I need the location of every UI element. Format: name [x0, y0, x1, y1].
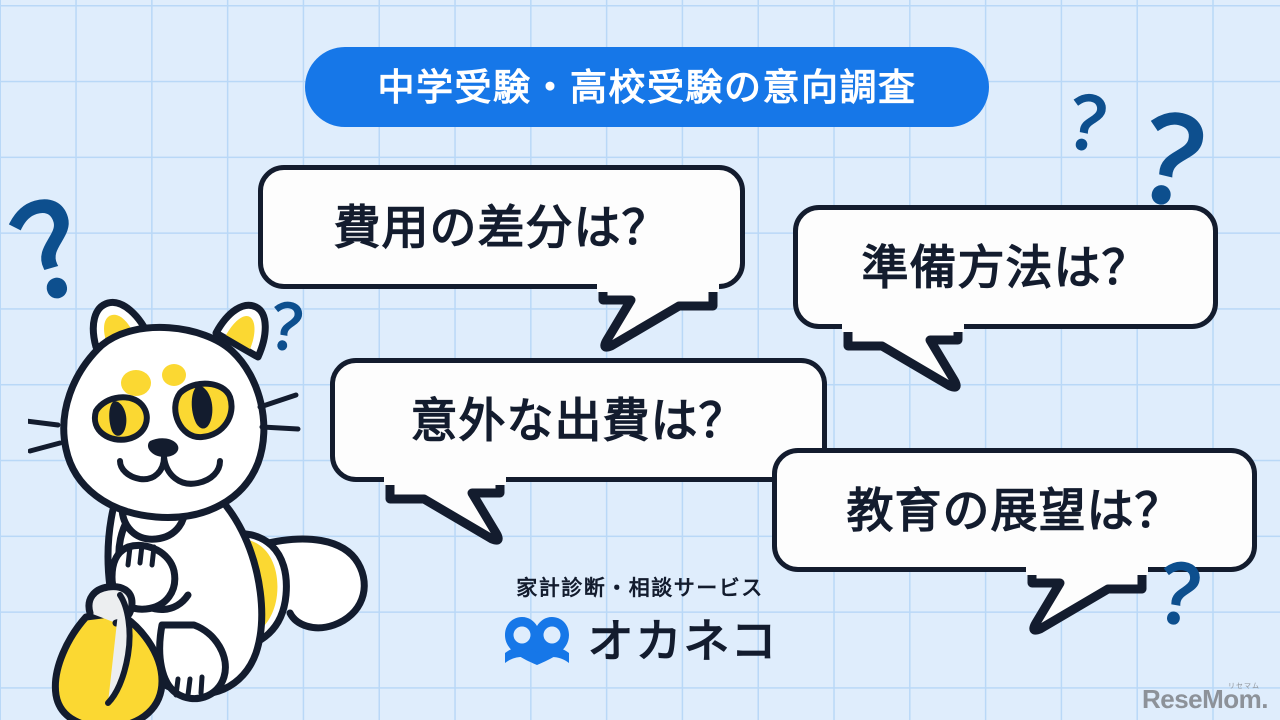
- speech-bubble-tail: [1022, 567, 1152, 637]
- question-mark-icon-topright-small: ？: [1062, 86, 1146, 170]
- speech-bubble-tail: [593, 284, 723, 354]
- speech-bubble-text: 教育の展望は？: [847, 487, 1183, 534]
- brand-wordmark: オカネコ: [587, 618, 778, 664]
- okaneko-mark-icon: [501, 615, 573, 667]
- watermark: リセマム ReseMom.: [1142, 683, 1268, 712]
- brand-logo-row: オカネコ: [501, 615, 778, 667]
- brand-tagline: 家計診断・相談サービス: [516, 578, 764, 599]
- speech-bubble-text: 費用の差分は？: [334, 204, 670, 251]
- speech-bubble-tail: [380, 477, 510, 547]
- mascot-cat-illustration: [28, 295, 388, 720]
- page-title-pill: 中学受験・高校受験の意向調査: [305, 47, 989, 127]
- question-mark-icon-topright-large: ？: [1128, 98, 1270, 240]
- question-mark-icon-bottomright: ？: [1152, 554, 1245, 647]
- poster-canvas: 中学受験・高校受験の意向調査 ？ ？ ？: [0, 0, 1280, 720]
- speech-bubble-unexpected-expense: 意外な出費は？: [330, 358, 827, 482]
- speech-bubble-text: 意外な出費は？: [411, 397, 747, 444]
- page-title: 中学受験・高校受験の意向調査: [378, 69, 917, 106]
- speech-bubble-text: 準備方法は？: [862, 244, 1150, 291]
- watermark-text: ReseMom.: [1142, 686, 1268, 712]
- speech-bubble-cost-difference: 費用の差分は？: [258, 165, 745, 289]
- speech-bubble-tail: [838, 324, 968, 394]
- brand-logo-block: 家計診断・相談サービス オカネコ: [440, 578, 840, 688]
